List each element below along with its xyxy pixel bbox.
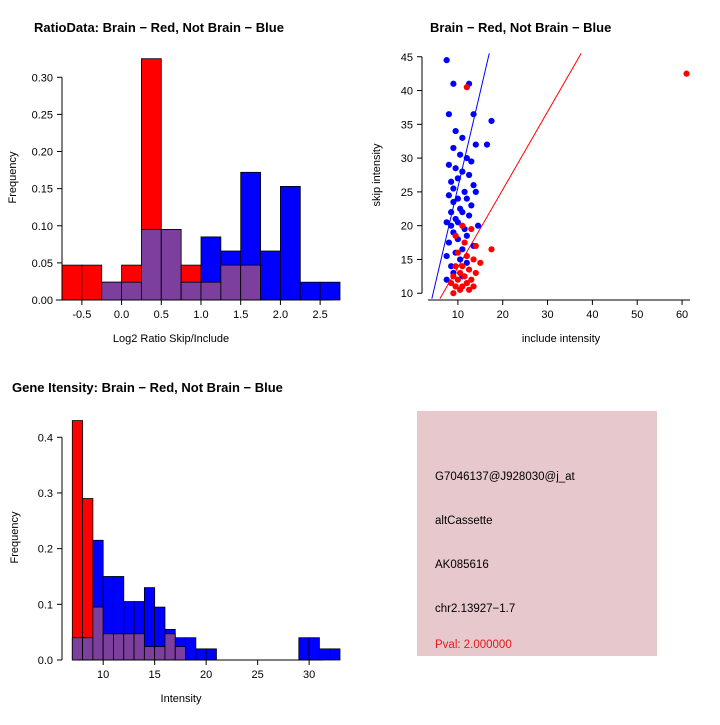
x-tick-label: 20	[200, 669, 212, 681]
histogram-bar-overlap	[72, 638, 82, 660]
scatter-point	[453, 165, 459, 171]
scatter-point	[466, 212, 472, 218]
y-tick-label: 10	[401, 288, 413, 300]
y-axis-title: Frequency	[7, 151, 19, 203]
x-tick-label: -0.5	[72, 309, 91, 321]
histogram-bar	[206, 649, 216, 660]
scatter-point	[446, 239, 452, 245]
scatter-point	[473, 189, 479, 195]
panel-intensity-histogram: Gene Itensity: Brain − Red, Not Brain − …	[0, 360, 360, 720]
x-tick-label: 10	[452, 309, 464, 321]
histogram-bar	[196, 649, 206, 660]
x-tick-label: 1.0	[193, 309, 208, 321]
scatter-point	[461, 273, 467, 279]
scatter-point	[464, 253, 470, 259]
histogram-bar-overlap	[165, 634, 175, 660]
histogram-bar	[280, 186, 300, 300]
y-tick-label: 35	[401, 119, 413, 131]
histogram-bar	[72, 421, 82, 660]
scatter-point	[446, 162, 452, 168]
histogram-bar-overlap	[181, 282, 201, 300]
histogram-bar	[300, 282, 320, 300]
scatter-point	[468, 158, 474, 164]
scatter-title: Brain − Red, Not Brain − Blue	[430, 20, 611, 35]
scatter-point	[466, 266, 472, 272]
histogram-bar-overlap	[113, 634, 123, 660]
histogram-bar-overlap	[155, 647, 165, 660]
scatter-point	[450, 199, 456, 205]
histogram-bar-overlap	[122, 282, 142, 300]
histogram-bar-overlap	[175, 647, 185, 660]
scatter-point	[450, 81, 456, 87]
y-axis-title: skip intensity	[371, 143, 383, 206]
histogram-bar	[82, 265, 102, 300]
scatter-point	[477, 260, 483, 266]
histogram-bar	[299, 638, 309, 660]
histogram-bar-overlap	[83, 638, 93, 660]
histogram-bar	[309, 638, 319, 660]
histogram-bar-overlap	[201, 282, 221, 300]
info-probeset-id: G7046137@J928030@j_at	[435, 471, 575, 483]
scatter-point	[459, 135, 465, 141]
scatter-point	[455, 250, 461, 256]
scatter-point	[464, 233, 470, 239]
info-accession: AK085616	[435, 559, 489, 571]
scatter-point	[468, 226, 474, 232]
info-event-type: altCassette	[435, 515, 493, 527]
x-tick-label: 30	[541, 309, 553, 321]
x-tick-label: 1.5	[233, 309, 248, 321]
histogram-bar-overlap	[102, 282, 122, 300]
x-axis-title: include intensity	[522, 333, 601, 345]
scatter-point	[446, 111, 452, 117]
scatter-point	[453, 233, 459, 239]
panel-scatter: Brain − Red, Not Brain − Blue 1020304050…	[360, 0, 720, 360]
x-tick-label: 2.5	[312, 309, 327, 321]
histogram-bar-overlap	[161, 229, 181, 300]
scatter-point	[448, 179, 454, 185]
gene-info-panel: G7046137@J928030@j_at altCassette AK0856…	[417, 411, 657, 656]
histogram-bar	[320, 282, 340, 300]
histogram-bar-overlap	[144, 647, 154, 660]
x-tick-label: 25	[252, 669, 264, 681]
y-tick-label: 0.4	[38, 432, 53, 444]
y-tick-label: 0.0	[38, 655, 53, 667]
histogram-bar-overlap	[241, 265, 261, 300]
y-tick-label: 0.25	[32, 109, 53, 121]
scatter-point	[466, 172, 472, 178]
y-tick-label: 0.30	[32, 72, 53, 84]
y-tick-label: 45	[401, 52, 413, 64]
intensity-histogram-title: Gene Itensity: Brain − Red, Not Brain − …	[12, 380, 283, 395]
scatter-point	[464, 84, 470, 90]
y-tick-label: 20	[401, 221, 413, 233]
scatter-point	[464, 196, 470, 202]
histogram-bar-overlap	[124, 634, 134, 660]
y-tick-label: 0.20	[32, 147, 53, 159]
y-tick-label: 0.15	[32, 184, 53, 196]
histogram-bar	[186, 638, 196, 660]
scatter-point	[488, 118, 494, 124]
x-tick-label: 2.0	[273, 309, 288, 321]
scatter-point	[457, 287, 463, 293]
intensity-histogram-plot: 10152025300.00.10.20.30.4IntensityFreque…	[0, 360, 360, 720]
scatter-point	[683, 71, 689, 77]
histogram-bar-overlap	[141, 229, 161, 300]
histogram-bar-overlap	[103, 634, 113, 660]
x-tick-label: 15	[149, 669, 161, 681]
y-tick-label: 40	[401, 86, 413, 98]
scatter-point	[473, 270, 479, 276]
scatter-point	[475, 223, 481, 229]
scatter-point	[444, 253, 450, 259]
histogram-bar	[261, 251, 281, 300]
y-tick-label: 15	[401, 254, 413, 266]
scatter-point	[459, 169, 465, 175]
histogram-bar	[330, 649, 340, 660]
histogram-bar-overlap	[134, 634, 144, 660]
histogram-bar-overlap	[221, 265, 241, 300]
scatter-point	[470, 182, 476, 188]
scatter-point	[446, 192, 452, 198]
x-tick-label: 10	[97, 669, 109, 681]
scatter-point	[473, 141, 479, 147]
x-tick-label: 60	[676, 309, 688, 321]
scatter-point	[453, 128, 459, 134]
x-tick-label: 40	[586, 309, 598, 321]
scatter-point	[457, 152, 463, 158]
scatter-point	[470, 111, 476, 117]
y-tick-label: 0.00	[32, 295, 53, 307]
scatter-point	[459, 263, 465, 269]
scatter-point	[484, 141, 490, 147]
scatter-point	[450, 145, 456, 151]
scatter-point	[448, 209, 454, 215]
y-tick-label: 0.3	[38, 488, 53, 500]
scatter-point	[457, 256, 463, 262]
scatter-point	[488, 246, 494, 252]
scatter-point	[444, 57, 450, 63]
y-axis-title: Frequency	[9, 511, 21, 563]
y-tick-label: 0.1	[38, 599, 53, 611]
scatter-point	[450, 185, 456, 191]
histogram-bar	[83, 499, 93, 660]
scatter-point	[455, 175, 461, 181]
y-tick-label: 0.2	[38, 544, 53, 556]
scatter-point	[461, 189, 467, 195]
scatter-point	[453, 263, 459, 269]
scatter-point	[459, 209, 465, 215]
y-tick-label: 30	[401, 153, 413, 165]
y-tick-label: 0.10	[32, 221, 53, 233]
info-locus: chr2.13927−1.7	[435, 603, 515, 615]
scatter-plot: 1020304050601015202530354045include inte…	[360, 0, 720, 360]
scatter-point	[470, 256, 476, 262]
scatter-point	[450, 290, 456, 296]
x-tick-label: 20	[497, 309, 509, 321]
scatter-point	[459, 223, 465, 229]
x-axis-title: Intensity	[161, 693, 202, 705]
histogram-bar-overlap	[93, 607, 103, 660]
scatter-point	[455, 277, 461, 283]
scatter-point	[468, 202, 474, 208]
x-tick-label: 0.0	[114, 309, 129, 321]
y-tick-label: 0.05	[32, 258, 53, 270]
histogram-bar	[62, 265, 82, 300]
scatter-point	[473, 243, 479, 249]
x-tick-label: 30	[303, 669, 315, 681]
histogram-bar	[319, 649, 329, 660]
y-tick-label: 25	[401, 187, 413, 199]
scatter-point	[461, 239, 467, 245]
ratio-histogram-plot: -0.50.00.51.01.52.02.50.000.050.100.150.…	[0, 0, 360, 360]
scatter-point	[466, 287, 472, 293]
info-pval: Pval: 2.000000	[435, 639, 512, 651]
panel-ratio-histogram: RatioData: Brain − Red, Not Brain − Blue…	[0, 0, 360, 360]
x-axis-title: Log2 Ratio Skip/Include	[113, 333, 229, 345]
x-tick-label: 0.5	[154, 309, 169, 321]
ratio-histogram-title: RatioData: Brain − Red, Not Brain − Blue	[34, 20, 284, 35]
x-tick-label: 50	[631, 309, 643, 321]
scatter-point	[448, 223, 454, 229]
